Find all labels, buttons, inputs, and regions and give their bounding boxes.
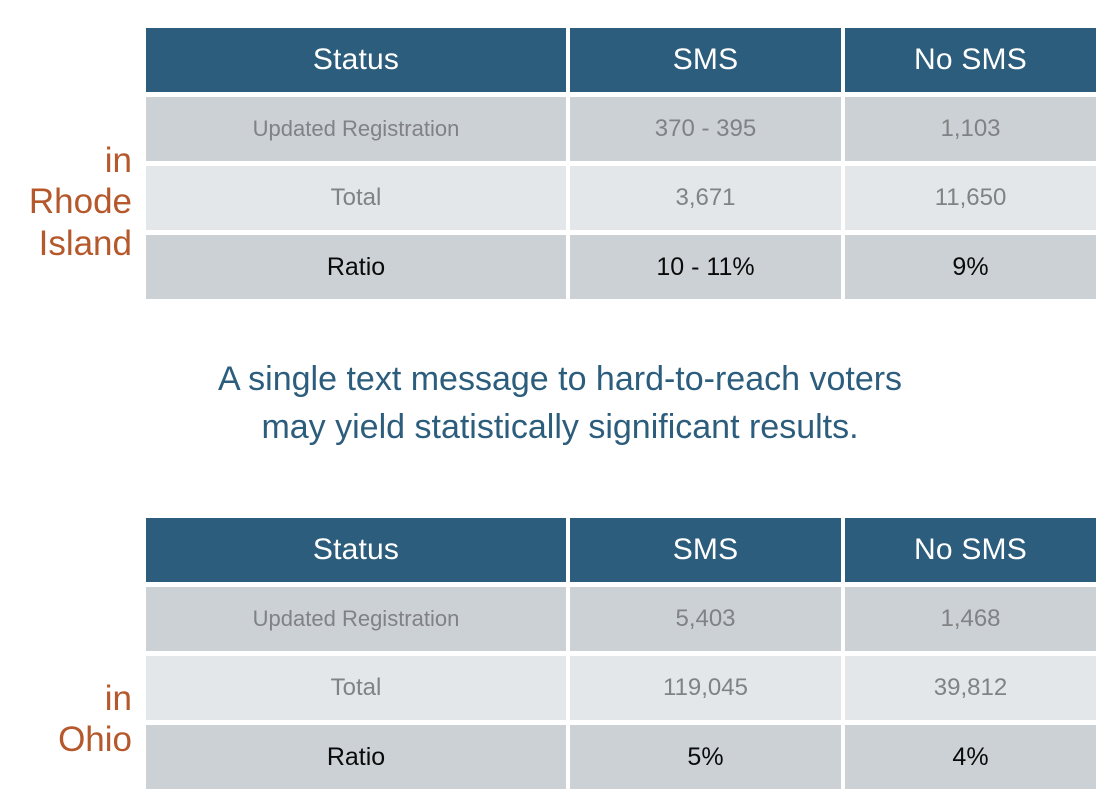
table-ohio: Status SMS No SMS Updated Registration 5… [146,518,1096,789]
column-header-no-sms: No SMS [845,518,1096,582]
cell-no-sms: 1,468 [845,587,1096,651]
column-header-status: Status [146,518,566,582]
table-header-row: Status SMS No SMS [146,518,1096,582]
state-label-line-1: in [105,141,132,180]
caption-line-1: A single text message to hard-to-reach v… [14,355,1106,403]
table-row: Ratio 10 - 11% 9% [146,235,1096,299]
table-row: Ratio 5% 4% [146,725,1096,789]
table-row: Updated Registration 5,403 1,468 [146,587,1096,651]
caption-line-2: may yield statistically significant resu… [14,403,1106,451]
column-header-sms: SMS [570,28,841,92]
state-label-line-2: Ohio [58,720,132,759]
cell-no-sms: 11,650 [845,166,1096,230]
cell-no-sms: 4% [845,725,1096,789]
cell-status: Updated Registration [146,587,566,651]
cell-status: Updated Registration [146,97,566,161]
caption-text: A single text message to hard-to-reach v… [0,355,1106,452]
cell-no-sms: 1,103 [845,97,1096,161]
state-label-line-3: Island [39,224,132,263]
column-header-sms: SMS [570,518,841,582]
cell-status: Ratio [146,725,566,789]
cell-sms: 119,045 [570,656,841,720]
cell-sms: 10 - 11% [570,235,841,299]
state-label-line-1: in [105,679,132,718]
data-table: Status SMS No SMS Updated Registration 3… [142,23,1100,304]
cell-sms: 5% [570,725,841,789]
cell-sms: 3,671 [570,166,841,230]
column-header-status: Status [146,28,566,92]
table-row: Total 3,671 11,650 [146,166,1096,230]
cell-status: Ratio [146,235,566,299]
data-table: Status SMS No SMS Updated Registration 5… [142,513,1100,794]
cell-status: Total [146,166,566,230]
cell-no-sms: 9% [845,235,1096,299]
column-header-no-sms: No SMS [845,28,1096,92]
table-row: Total 119,045 39,812 [146,656,1096,720]
table-row: Updated Registration 370 - 395 1,103 [146,97,1096,161]
state-label-rhode-island: in Rhode Island [0,140,132,264]
cell-no-sms: 39,812 [845,656,1096,720]
cell-sms: 370 - 395 [570,97,841,161]
table-header-row: Status SMS No SMS [146,28,1096,92]
table-rhode-island: Status SMS No SMS Updated Registration 3… [146,28,1096,299]
cell-sms: 5,403 [570,587,841,651]
cell-status: Total [146,656,566,720]
state-label-line-2: Rhode [29,182,132,221]
state-label-ohio: in Ohio [0,678,132,761]
